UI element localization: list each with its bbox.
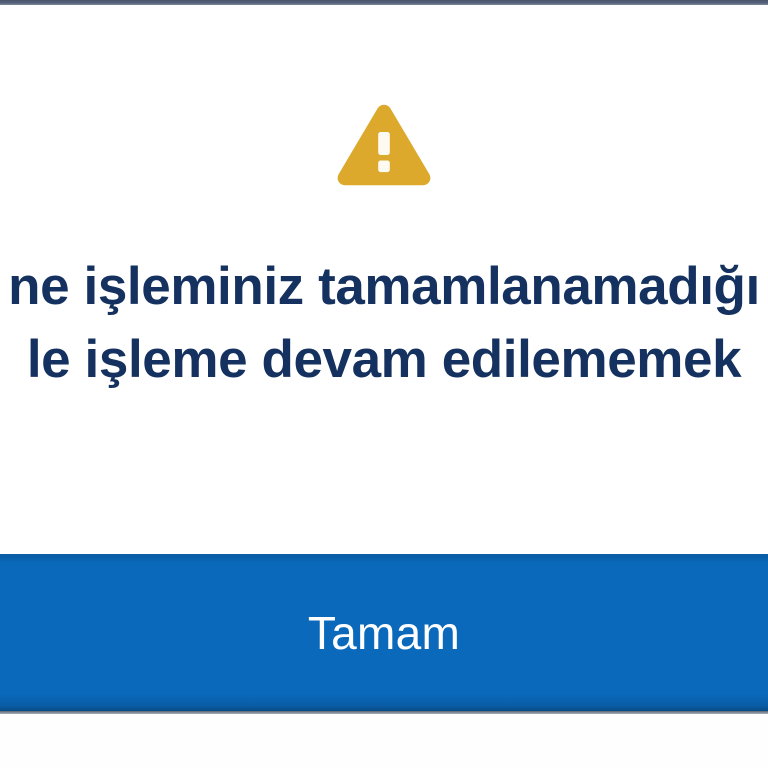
- dialog-message: ne işleminiz tamamlanamadığı le işleme d…: [0, 250, 768, 396]
- warning-triangle-icon: [0, 100, 768, 192]
- dialog-message-line-1: ne işleminiz tamamlanamadığı: [0, 250, 768, 323]
- dialog-message-line-2: le işleme devam edilememek: [0, 323, 768, 396]
- error-dialog: ne işleminiz tamamlanamadığı le işleme d…: [0, 5, 768, 768]
- ok-button[interactable]: Tamam: [0, 554, 768, 711]
- dialog-footer-space: [0, 714, 768, 768]
- dialog-screen: ne işleminiz tamamlanamadığı le işleme d…: [0, 0, 768, 768]
